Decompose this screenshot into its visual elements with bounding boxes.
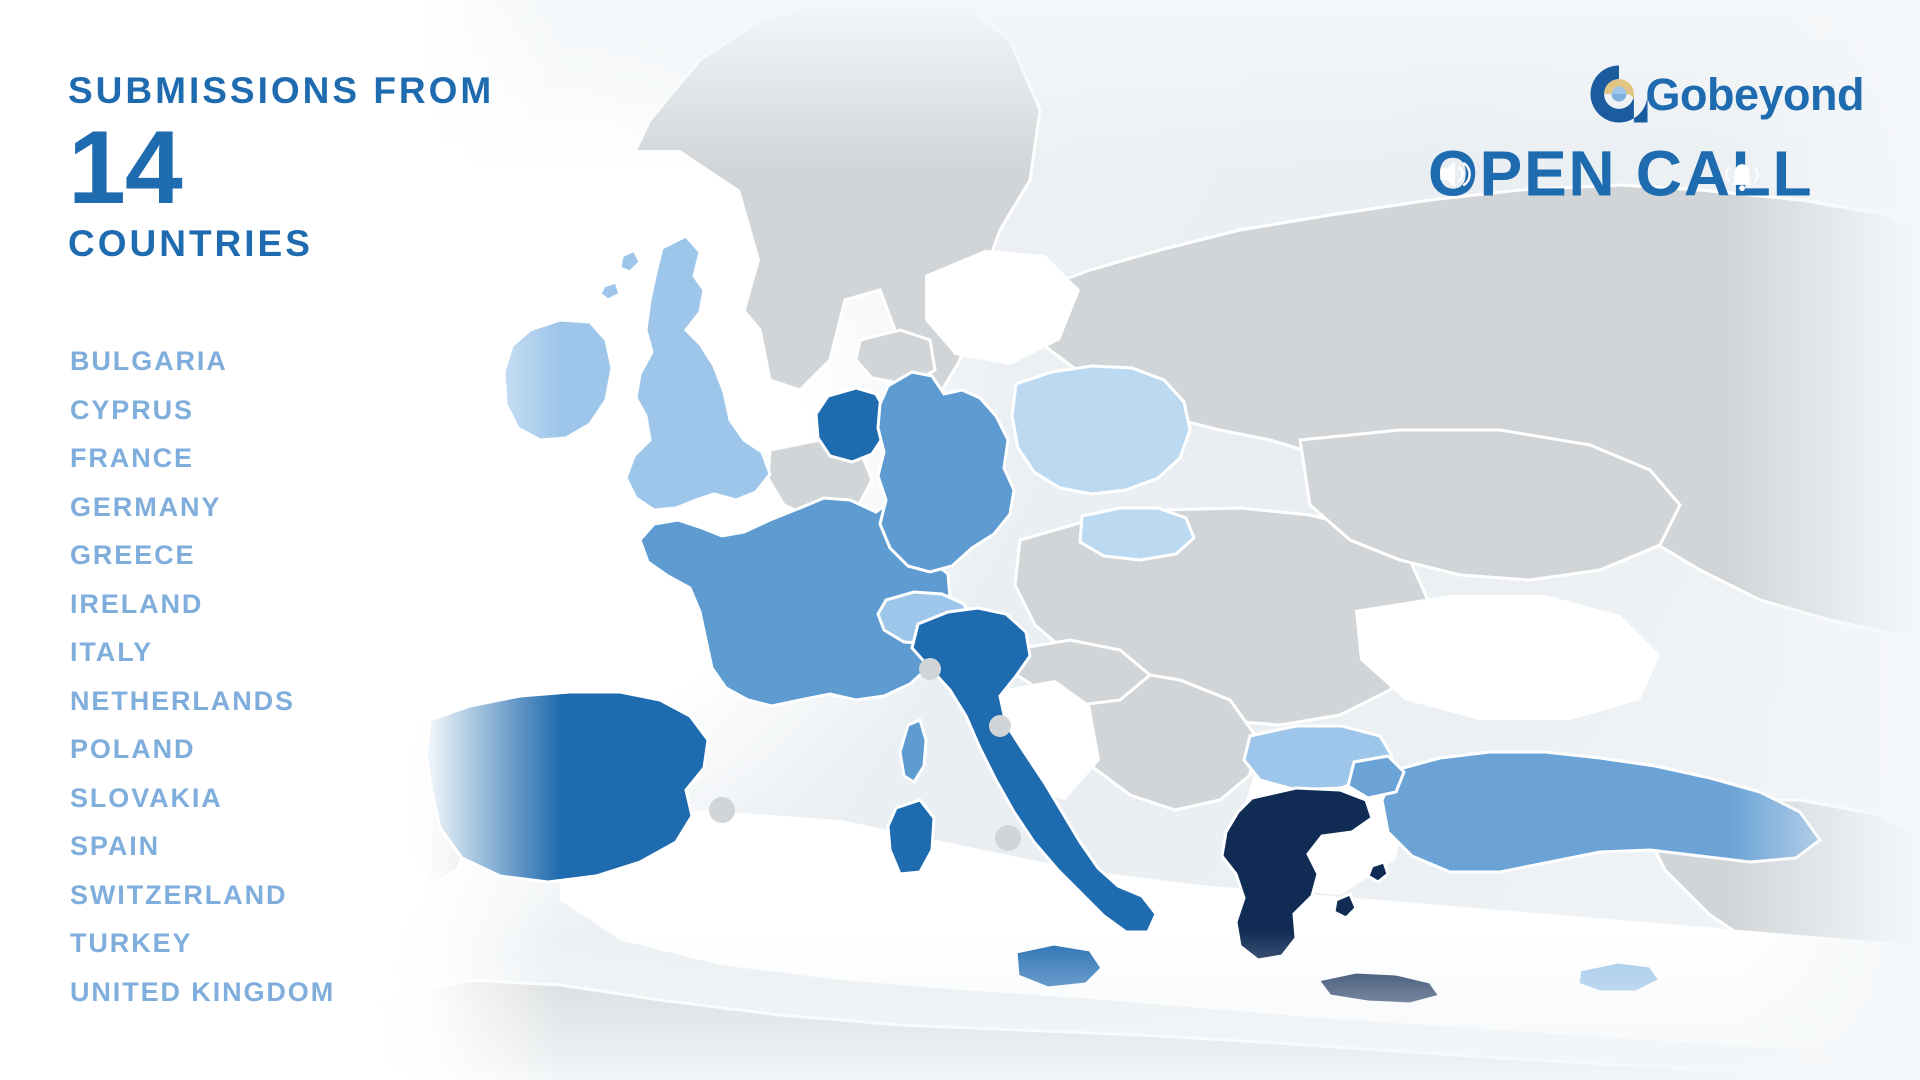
list-item: FRANCE [70,445,335,472]
map-country-turkey [1382,752,1820,872]
logo-wordmark: Gobeyond [1646,72,1865,117]
map-country-netherlands [816,388,886,462]
list-item: SPAIN [70,833,335,860]
list-item: UNITED KINGDOM [70,979,335,1006]
map-country-ireland [504,320,612,440]
gobeyond-logo: Gobeyond [1428,62,1864,126]
map-country-germany [878,372,1014,572]
list-item: SLOVAKIA [70,785,335,812]
headline-kicker: SUBMISSIONS FROM [68,72,494,109]
list-item: GREECE [70,542,335,569]
list-item: POLAND [70,736,335,763]
poster-canvas: .grey { fill:#D2D5D7; stroke:#ffffff; st… [0,0,1920,1080]
map-country-turkey-thrace [1348,756,1404,798]
map-country-slovakia [1080,508,1194,560]
list-item: GERMANY [70,494,335,521]
list-item: NETHERLANDS [70,688,335,715]
open-call-svg: OPEN CALL [1428,138,1864,212]
list-item: ITALY [70,639,335,666]
country-list: BULGARIA CYPRUS FRANCE GERMANY GREECE IR… [70,348,335,1027]
country-count: 14 [68,121,494,217]
headline-unit: COUNTRIES [68,225,494,262]
list-item: SWITZERLAND [70,882,335,909]
list-item: IRELAND [70,591,335,618]
gobeyond-circle-g-mark [1588,63,1650,125]
list-item: CYPRUS [70,397,335,424]
map-country-france-corsica [900,720,926,782]
map-country-italy-sicily [1016,944,1102,988]
list-item: TURKEY [70,930,335,957]
brand-block: Gobeyond OPEN CALL [1428,62,1864,212]
map-country-poland [1012,366,1190,494]
open-call-heading: OPEN CALL [1428,138,1864,212]
headline-block: SUBMISSIONS FROM 14 COUNTRIES [68,72,494,262]
list-item: BULGARIA [70,348,335,375]
map-country-cyprus [1578,962,1660,992]
open-call-text: OPEN CALL [1428,138,1813,210]
